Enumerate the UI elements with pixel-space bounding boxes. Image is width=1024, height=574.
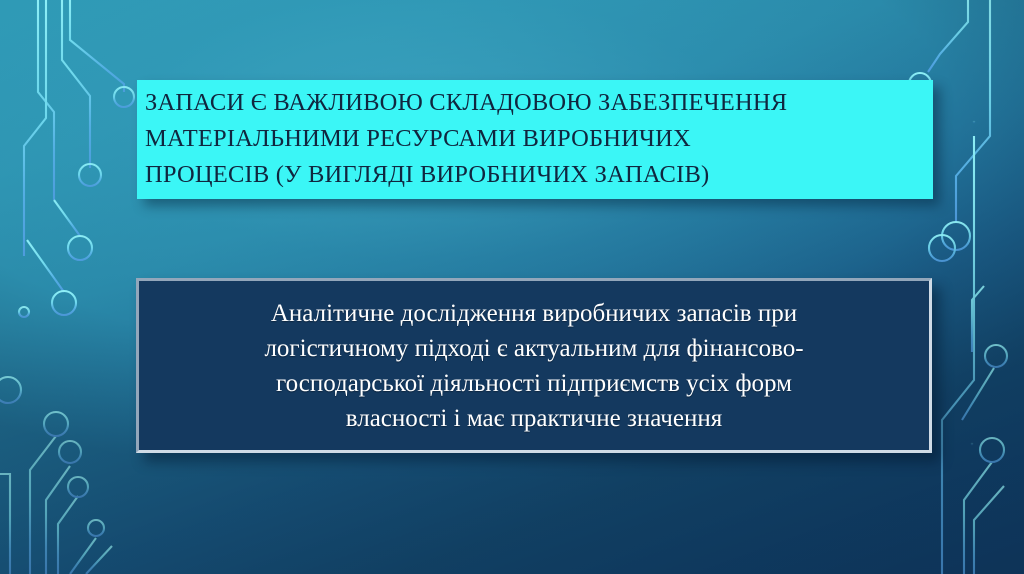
slide-body-box: Аналітичне дослідження виробничих запасі… [136, 278, 932, 453]
slide-body-text: Аналітичне дослідження виробничих запасі… [264, 296, 803, 436]
presentation-slide: ЗАПАСИ Є ВАЖЛИВОЮ СКЛАДОВОЮ ЗАБЕЗПЕЧЕННЯ… [0, 0, 1024, 574]
slide-title-text: ЗАПАСИ Є ВАЖЛИВОЮ СКЛАДОВОЮ ЗАБЕЗПЕЧЕННЯ… [145, 85, 925, 193]
slide-title-box: ЗАПАСИ Є ВАЖЛИВОЮ СКЛАДОВОЮ ЗАБЕЗПЕЧЕННЯ… [137, 80, 933, 199]
